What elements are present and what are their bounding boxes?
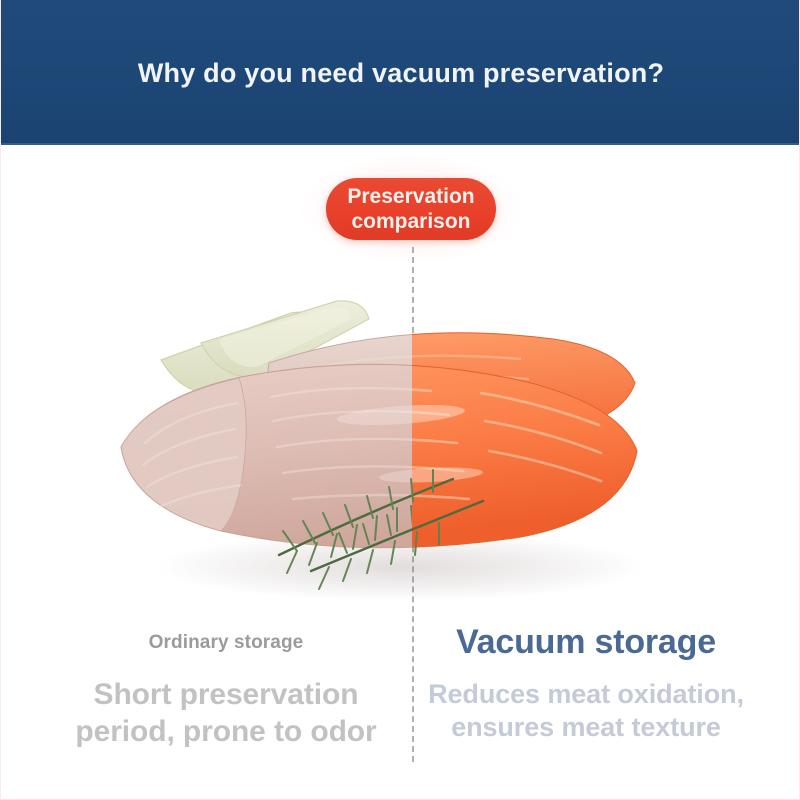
ordinary-storage-description: Short preservation period, prone to odor [61, 676, 391, 750]
badge-label-line1: Preservation [347, 184, 474, 209]
ordinary-storage-label: Ordinary storage [61, 630, 391, 656]
comparison-photo [101, 265, 721, 620]
preservation-comparison-badge: Preservation comparison [326, 178, 496, 240]
vacuum-storage-caption: Vacuum storage Reduces meat oxidation, e… [421, 630, 751, 744]
badge-label-line2: comparison [351, 209, 470, 234]
infographic-page: Why do you need vacuum preservation? Pre… [0, 0, 800, 800]
vacuum-storage-label: Vacuum storage [421, 622, 751, 662]
page-title: Why do you need vacuum preservation? [1, 0, 800, 145]
ordinary-storage-caption: Ordinary storage Short preservation peri… [61, 630, 391, 750]
vacuum-storage-description: Reduces meat oxidation, ensures meat tex… [421, 678, 751, 744]
